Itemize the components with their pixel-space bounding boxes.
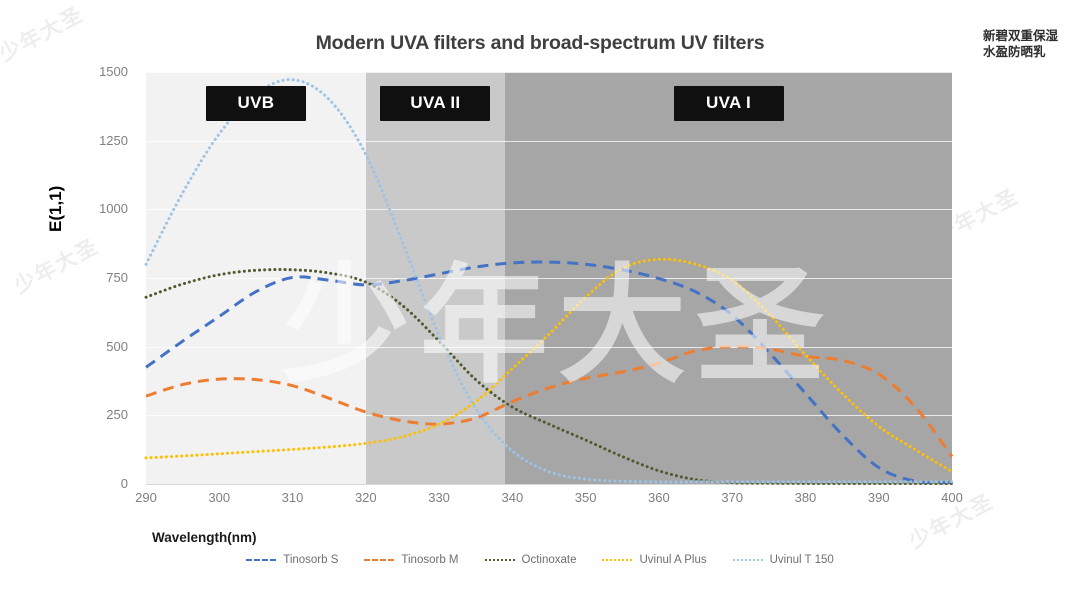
legend-item-uvinul-t-150[interactable]: Uvinul T 150: [733, 554, 834, 566]
chart-container: 少年大圣 少年大圣 少年大圣 少年大圣 Modern UVA filters a…: [0, 0, 1080, 608]
legend-swatch: [602, 559, 632, 561]
x-tick-label: 310: [263, 490, 323, 505]
x-tick-label: 390: [849, 490, 909, 505]
x-tick-label: 290: [116, 490, 176, 505]
series-curves: [146, 72, 952, 484]
band-tag-uva-ii: UVA II: [380, 86, 490, 121]
x-tick-label: 370: [702, 490, 762, 505]
series-line-uvinul-t-150: [146, 80, 952, 482]
y-tick-label: 1250: [68, 133, 128, 148]
y-tick-label: 0: [68, 476, 128, 491]
legend-item-octinoxate[interactable]: Octinoxate: [485, 554, 577, 566]
chart-title: Modern UVA filters and broad-spectrum UV…: [0, 32, 1080, 55]
x-axis-title: Wavelength(nm): [152, 530, 257, 545]
x-tick-label: 350: [556, 490, 616, 505]
y-tick-label: 250: [68, 407, 128, 422]
legend-item-tinosorb-s[interactable]: Tinosorb S: [246, 554, 338, 566]
legend-swatch: [733, 559, 763, 561]
legend-swatch: [485, 559, 515, 561]
legend-swatch: [364, 559, 394, 561]
legend-label: Tinosorb M: [401, 554, 458, 566]
series-line-uvinul-a-plus: [146, 259, 952, 471]
x-tick-label: 400: [922, 490, 982, 505]
x-tick-label: 340: [482, 490, 542, 505]
x-tick-label: 300: [189, 490, 249, 505]
x-tick-label: 320: [336, 490, 396, 505]
legend-swatch: [246, 559, 276, 561]
brand-line-1: 新碧双重保湿: [983, 28, 1058, 44]
legend-label: Uvinul A Plus: [639, 554, 706, 566]
brand-line-2: 水盈防晒乳: [983, 44, 1058, 60]
x-tick-label: 360: [629, 490, 689, 505]
series-line-tinosorb-s: [146, 262, 952, 483]
gridline: [146, 484, 952, 485]
x-tick-label: 380: [775, 490, 835, 505]
watermark-small: 少年大圣: [8, 230, 103, 300]
legend-label: Tinosorb S: [283, 554, 338, 566]
x-tick-label: 330: [409, 490, 469, 505]
legend-label: Uvinul T 150: [770, 554, 834, 566]
legend-item-uvinul-a-plus[interactable]: Uvinul A Plus: [602, 554, 706, 566]
y-tick-label: 1500: [68, 64, 128, 79]
legend-label: Octinoxate: [522, 554, 577, 566]
brand-label: 新碧双重保湿 水盈防晒乳: [983, 28, 1058, 60]
y-axis-title: E(1,1): [46, 186, 66, 232]
y-tick-label: 750: [68, 270, 128, 285]
band-tag-uva-i: UVA I: [674, 86, 784, 121]
legend-item-tinosorb-m[interactable]: Tinosorb M: [364, 554, 458, 566]
series-line-tinosorb-m: [146, 347, 952, 457]
chart-legend: Tinosorb STinosorb MOctinoxateUvinul A P…: [0, 554, 1080, 566]
y-tick-label: 500: [68, 339, 128, 354]
y-tick-label: 1000: [68, 201, 128, 216]
band-tag-uvb: UVB: [206, 86, 306, 121]
plot-area: UVBUVA IIUVA I: [146, 72, 952, 484]
